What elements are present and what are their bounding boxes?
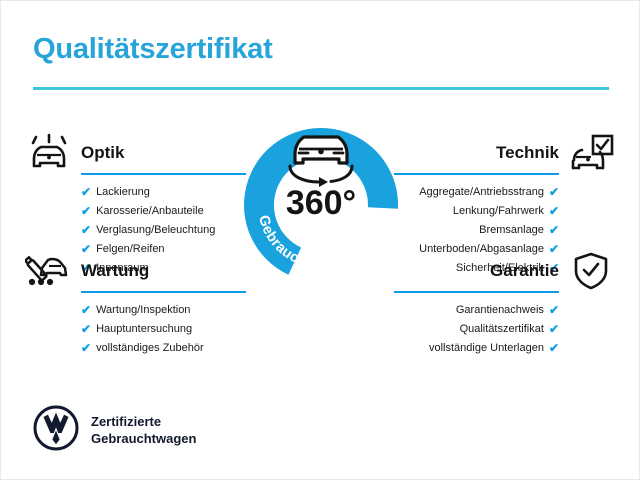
title-divider	[33, 87, 609, 90]
list-item: ✔Lackierung	[81, 183, 215, 202]
section-optik: Optik ✔Lackierung ✔Karosserie/Anbauteile…	[81, 139, 246, 165]
section-item-list: ✔Wartung/Inspektion ✔Hauptuntersuchung ✔…	[81, 301, 204, 358]
section-technik: Technik Aggregate/Antriebsstrang✔ Lenkun…	[394, 139, 559, 165]
list-item-label: Lenkung/Fahrwerk	[453, 202, 544, 221]
list-item: Qualitätszertifikat✔	[429, 320, 559, 339]
section-item-list: Garantienachweis✔ Qualitätszertifikat✔ v…	[429, 301, 559, 358]
list-item-label: vollständiges Zubehör	[96, 339, 204, 358]
volkswagen-logo	[33, 405, 79, 456]
list-item-label: Bremsanlage	[479, 221, 544, 240]
check-icon: ✔	[81, 323, 91, 335]
check-icon: ✔	[549, 205, 559, 217]
list-item-label: Hauptuntersuchung	[96, 320, 192, 339]
badge-degrees: 360°	[286, 184, 356, 222]
section-title: Optik	[81, 143, 124, 163]
check-icon: ✔	[81, 342, 91, 354]
list-item: Lenkung/Fahrwerk✔	[419, 202, 559, 221]
car-rotate-icon	[290, 137, 352, 187]
page-title: Qualitätszertifikat	[33, 33, 273, 66]
check-icon: ✔	[81, 205, 91, 217]
shield-check-icon	[567, 251, 615, 296]
list-item-label: Wartung/Inspektion	[96, 301, 190, 320]
list-item: ✔Verglasung/Beleuchtung	[81, 221, 215, 240]
check-icon: ✔	[549, 224, 559, 236]
check-icon: ✔	[81, 224, 91, 236]
check-icon: ✔	[549, 342, 559, 354]
footer-brand: Zertifizierte Gebrauchtwagen	[33, 405, 196, 456]
check-icon: ✔	[81, 243, 91, 255]
list-item: ✔Wartung/Inspektion	[81, 301, 204, 320]
section-wartung: Wartung ✔Wartung/Inspektion ✔Hauptunters…	[81, 257, 246, 283]
section-divider	[81, 173, 246, 175]
section-divider	[394, 173, 559, 175]
list-item-label: Qualitätszertifikat	[460, 320, 544, 339]
certificate-page: Qualitätszertifikat Optik ✔Lackierung ✔K…	[0, 0, 640, 480]
list-item: Bremsanlage✔	[419, 221, 559, 240]
list-item-label: vollständige Unterlagen	[429, 339, 544, 358]
list-item-label: Lackierung	[96, 183, 150, 202]
badge-360-gebrauchtwagen-check: Gebrauchtwagen-Check 360°	[240, 124, 402, 286]
list-item-label: Garantienachweis	[456, 301, 544, 320]
list-item-label: Aggregate/Antriebsstrang	[419, 183, 544, 202]
section-title: Garantie	[490, 261, 559, 281]
section-title: Wartung	[81, 261, 149, 281]
section-garantie: Garantie Garantienachweis✔ Qualitätszert…	[394, 257, 559, 283]
check-icon: ✔	[549, 304, 559, 316]
section-divider	[394, 291, 559, 293]
list-item: ✔Hauptuntersuchung	[81, 320, 204, 339]
list-item: Aggregate/Antriebsstrang✔	[419, 183, 559, 202]
list-item-label: Verglasung/Beleuchtung	[96, 221, 215, 240]
section-divider	[81, 291, 246, 293]
check-icon: ✔	[549, 243, 559, 255]
car-wrench-icon	[25, 251, 73, 296]
section-title: Technik	[496, 143, 559, 163]
check-icon: ✔	[549, 323, 559, 335]
list-item: ✔vollständiges Zubehör	[81, 339, 204, 358]
footer-text: Zertifizierte Gebrauchtwagen	[91, 414, 196, 447]
check-icon: ✔	[81, 304, 91, 316]
check-icon: ✔	[549, 186, 559, 198]
list-item: Garantienachweis✔	[429, 301, 559, 320]
list-item: vollständige Unterlagen✔	[429, 339, 559, 358]
list-item: ✔Karosserie/Anbauteile	[81, 202, 215, 221]
car-checkbox-icon	[567, 133, 615, 178]
check-icon: ✔	[81, 186, 91, 198]
list-item-label: Karosserie/Anbauteile	[96, 202, 204, 221]
car-shine-icon	[25, 133, 73, 178]
